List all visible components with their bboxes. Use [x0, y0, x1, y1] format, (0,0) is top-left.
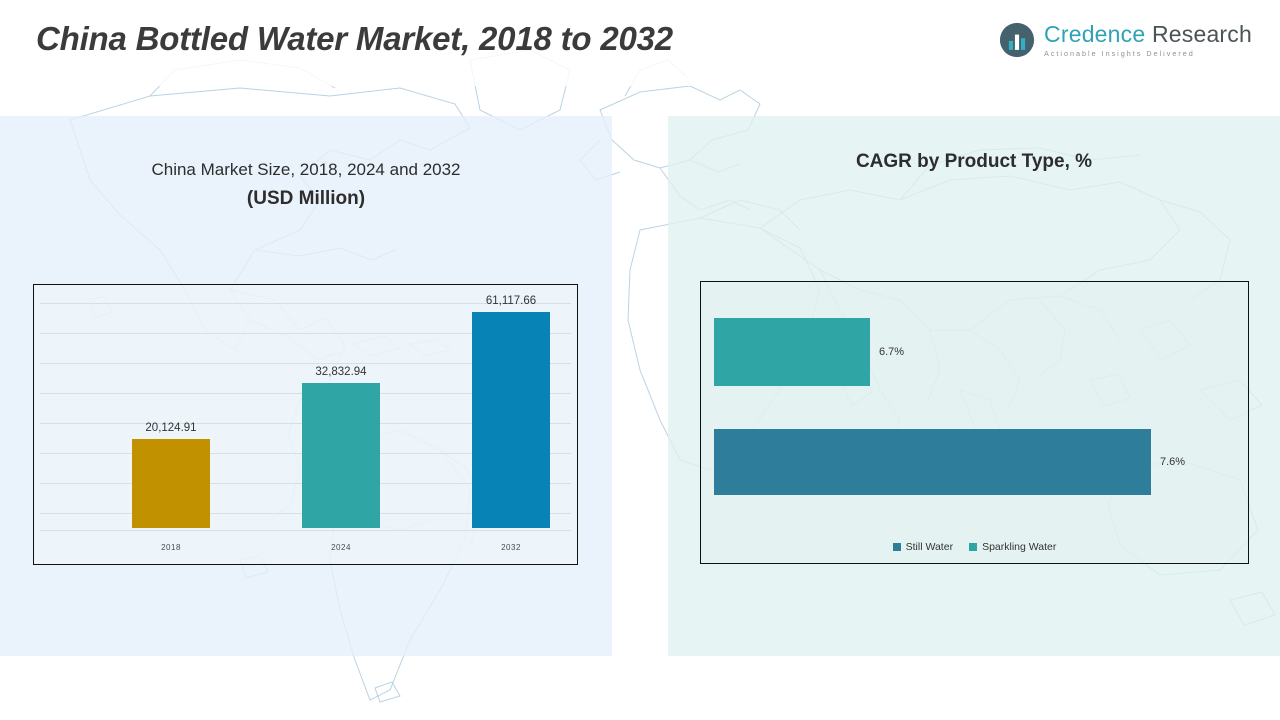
- right-panel-title: CAGR by Product Type, %: [668, 151, 1280, 173]
- left-panel: China Market Size, 2018, 2024 and 2032 (…: [0, 116, 612, 656]
- logo-name-part1: Credence: [1044, 21, 1145, 47]
- legend-label-still-water: Still Water: [906, 541, 953, 553]
- bar-value-2018: 20,124.91: [145, 422, 196, 434]
- legend-swatch-sparkling-water: [969, 543, 977, 551]
- bar-value-2032: 61,117.66: [486, 295, 536, 307]
- logo-name: Credence Research: [1044, 23, 1252, 46]
- chart-legend: Still Water Sparkling Water: [701, 541, 1248, 553]
- hbar-row-still-water[interactable]: 7.6%: [714, 429, 1185, 495]
- legend-item-sparkling-water[interactable]: Sparkling Water: [969, 541, 1056, 553]
- bar-group-2024[interactable]: 32,832.94: [286, 366, 396, 528]
- page-title: China Bottled Water Market, 2018 to 2032: [36, 20, 673, 58]
- left-panel-title-line2: (USD Million): [0, 188, 612, 210]
- bar-plot-area: 20,124.91 2018 32,832.94 2024 61,117.66 …: [34, 285, 577, 564]
- hbar-sparkling-water[interactable]: [714, 318, 870, 386]
- market-size-bar-chart: 20,124.91 2018 32,832.94 2024 61,117.66 …: [33, 284, 578, 565]
- bar-group-2032[interactable]: 61,117.66: [456, 295, 566, 528]
- legend-label-sparkling-water: Sparkling Water: [982, 541, 1056, 553]
- bar-2024[interactable]: [302, 383, 380, 528]
- bar-2032[interactable]: [472, 312, 550, 528]
- hbar-still-water[interactable]: [714, 429, 1151, 495]
- page-header: China Bottled Water Market, 2018 to 2032…: [0, 0, 1280, 116]
- hbar-value-still-water: 7.6%: [1160, 456, 1185, 468]
- logo-tagline: Actionable Insights Delivered: [1044, 50, 1252, 57]
- logo-text: Credence Research Actionable Insights De…: [1044, 23, 1252, 57]
- hbar-value-sparkling-water: 6.7%: [879, 346, 904, 358]
- legend-swatch-still-water: [893, 543, 901, 551]
- logo-name-part2: Research: [1152, 21, 1252, 47]
- bar-group-2018[interactable]: 20,124.91: [116, 422, 226, 528]
- cagr-bar-chart: 6.7% 7.6% Still Water Sparkling Water: [700, 281, 1249, 564]
- right-panel: CAGR by Product Type, % 6.7% 7.6% Still …: [668, 116, 1280, 656]
- left-panel-title-line1: China Market Size, 2018, 2024 and 2032: [0, 160, 612, 180]
- bar-category-2024: 2024: [286, 543, 396, 552]
- bar-value-2024: 32,832.94: [315, 366, 366, 378]
- bar-2018[interactable]: [132, 439, 210, 528]
- brand-logo[interactable]: Credence Research Actionable Insights De…: [999, 22, 1252, 58]
- bar-chart-circle-icon: [999, 22, 1035, 58]
- hbar-row-sparkling-water[interactable]: 6.7%: [714, 318, 904, 386]
- bar-category-2032: 2032: [456, 543, 566, 552]
- legend-item-still-water[interactable]: Still Water: [893, 541, 953, 553]
- bar-category-2018: 2018: [116, 543, 226, 552]
